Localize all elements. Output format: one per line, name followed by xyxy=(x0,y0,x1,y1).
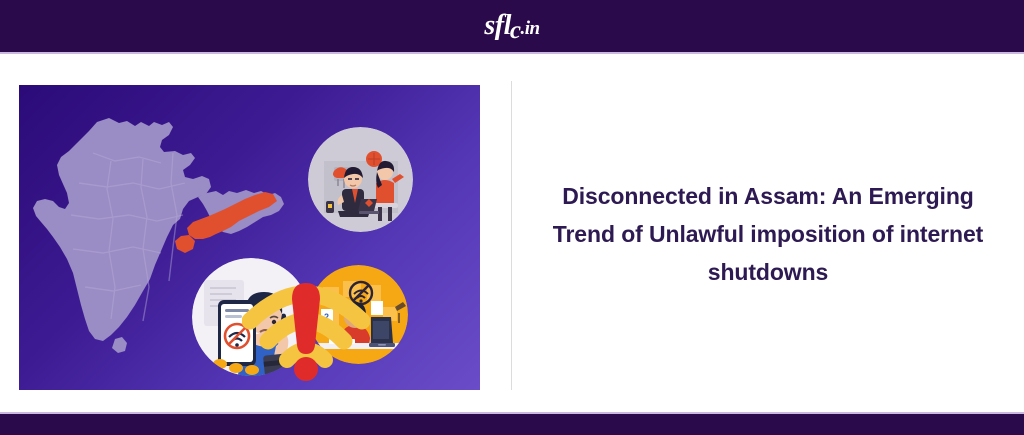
sflc-logo[interactable]: sflc.in xyxy=(484,12,539,40)
logo-text-tld: .in xyxy=(521,19,540,38)
content-divider xyxy=(511,81,512,390)
article-title-block: Disconnected in Assam: An Emerging Trend… xyxy=(528,56,1008,412)
logo-text-c: c xyxy=(510,18,521,43)
wifi-alert-icon xyxy=(242,277,370,387)
featured-image[interactable]: 2 xyxy=(19,85,480,390)
logo-text-main: sfl xyxy=(484,12,511,40)
illustration-bubble-frustrated-workers xyxy=(308,127,413,232)
laptop xyxy=(369,317,395,347)
banner-content: 2 xyxy=(0,56,1024,412)
article-banner-page: sflc.in xyxy=(0,0,1024,435)
page-title[interactable]: Disconnected in Assam: An Emerging Trend… xyxy=(548,177,988,291)
featured-image-canvas: 2 xyxy=(19,85,480,390)
alert-exclamation xyxy=(292,283,320,381)
site-footer xyxy=(0,412,1024,435)
site-header: sflc.in xyxy=(0,0,1024,54)
